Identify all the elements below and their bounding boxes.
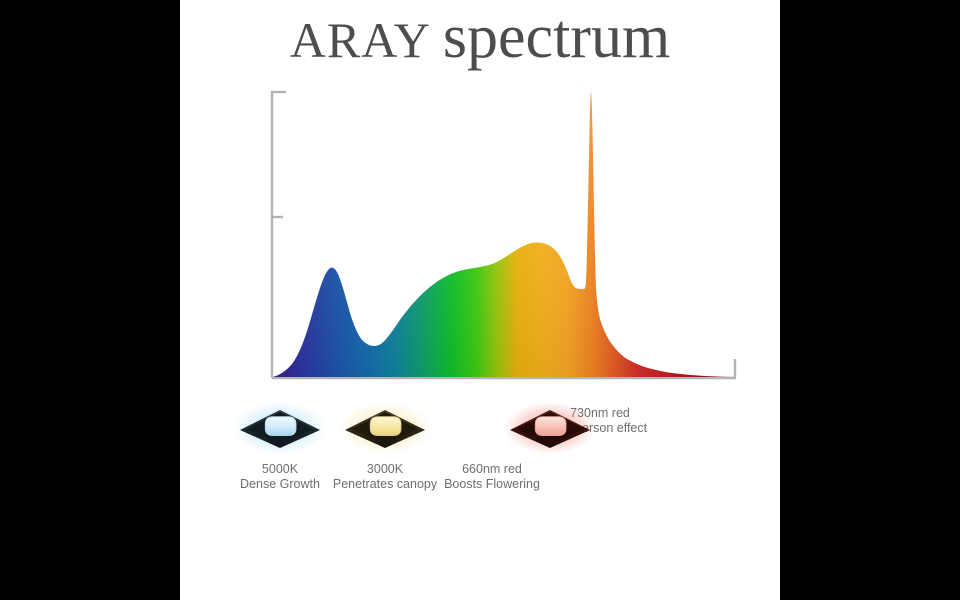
led-caption-3000k: 3000K Penetrates canopy: [330, 462, 440, 492]
title-word: spectrum: [443, 3, 670, 71]
spectrum-chart: [250, 85, 750, 390]
content-panel: ARAYspectrum: [180, 0, 780, 600]
led-legend-row: 5000K Dense Growth: [180, 400, 780, 530]
led-item-3000k[interactable]: 3000K Penetrates canopy: [330, 400, 440, 492]
led-caption-660nm: 660nm red Boosts Flowering: [437, 462, 547, 492]
led-chip-icon-5000k: [225, 400, 335, 456]
led-caption-5000k: 5000K Dense Growth: [225, 462, 335, 492]
brand-name: ARAY: [290, 12, 431, 68]
led-chip-icon-3000k: [330, 400, 440, 456]
led-item-5000k[interactable]: 5000K Dense Growth: [225, 400, 335, 492]
spectrum-curve: [273, 92, 734, 377]
page-title: ARAYspectrum: [180, 6, 780, 68]
screenshot-root: ARAYspectrum: [0, 0, 960, 600]
led-chip-icon-730nm: [495, 400, 605, 456]
led-item-730nm[interactable]: 730nm red Emmerson effect: [545, 400, 655, 436]
spectrum-chart-svg: [250, 85, 750, 390]
